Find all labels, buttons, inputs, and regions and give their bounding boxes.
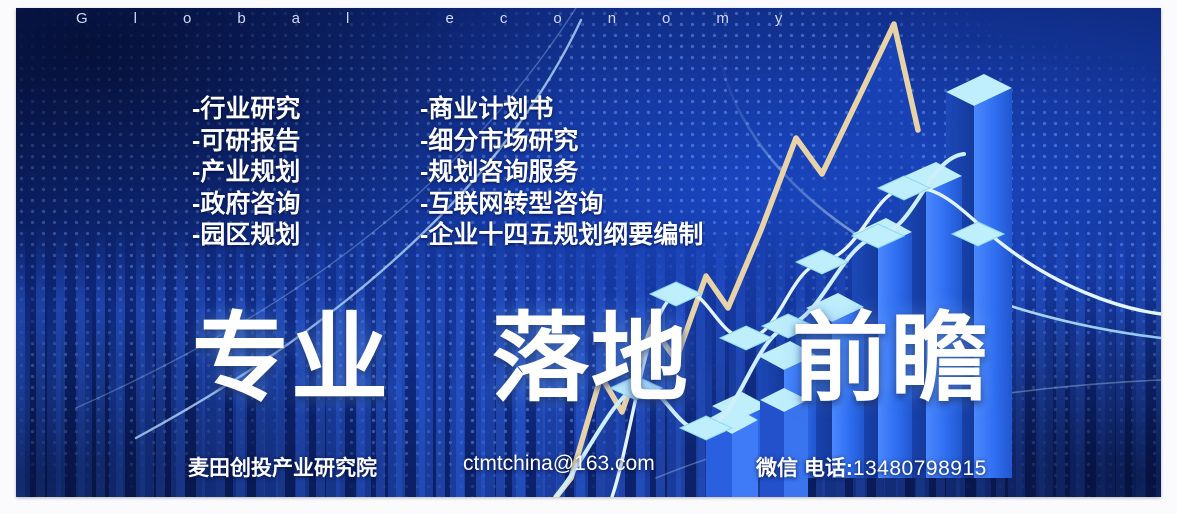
service-item: -商业计划书: [420, 94, 703, 126]
screenshot-root: Global economy -行业研究 -可研报告 -产业规划 -政府咨询 -…: [0, 0, 1177, 514]
kicker-global-economy: Global economy: [76, 10, 1106, 27]
service-list-column-2: -商业计划书 -细分市场研究 -规划咨询服务 -互联网转型咨询 -企业十四五规划…: [420, 94, 703, 252]
service-item: -细分市场研究: [420, 126, 703, 158]
economy-chart-illustration: [16, 8, 1161, 497]
service-item: -规划咨询服务: [420, 157, 703, 189]
headline-word-3: 前瞻: [792, 304, 990, 413]
footer-organization: 麦田创投产业研究院: [188, 452, 377, 482]
service-item: -政府咨询: [192, 189, 300, 221]
service-item: -产业规划: [192, 157, 300, 189]
headline: 专业 落地 前瞻: [192, 304, 990, 414]
service-item: -行业研究: [192, 94, 300, 126]
footer-contact-number[interactable]: 13480798915: [853, 457, 987, 480]
service-item: -企业十四五规划纲要编制: [420, 220, 703, 252]
footer-contact-label: 微信 电话:: [756, 457, 853, 480]
footer-contact: 微信 电话:13480798915: [756, 452, 987, 482]
service-list-column-1: -行业研究 -可研报告 -产业规划 -政府咨询 -园区规划: [192, 94, 300, 252]
headline-word-2: 落地: [492, 304, 690, 413]
service-item: -可研报告: [192, 126, 300, 158]
headline-word-1: 专业: [192, 304, 390, 413]
service-item: -园区规划: [192, 220, 300, 252]
promo-banner: Global economy -行业研究 -可研报告 -产业规划 -政府咨询 -…: [16, 8, 1161, 497]
service-item: -互联网转型咨询: [420, 189, 703, 221]
footer-bar: 麦田创投产业研究院 ctmtchina@163.com 微信 电话:134807…: [16, 452, 1161, 486]
footer-email[interactable]: ctmtchina@163.com: [463, 452, 655, 476]
